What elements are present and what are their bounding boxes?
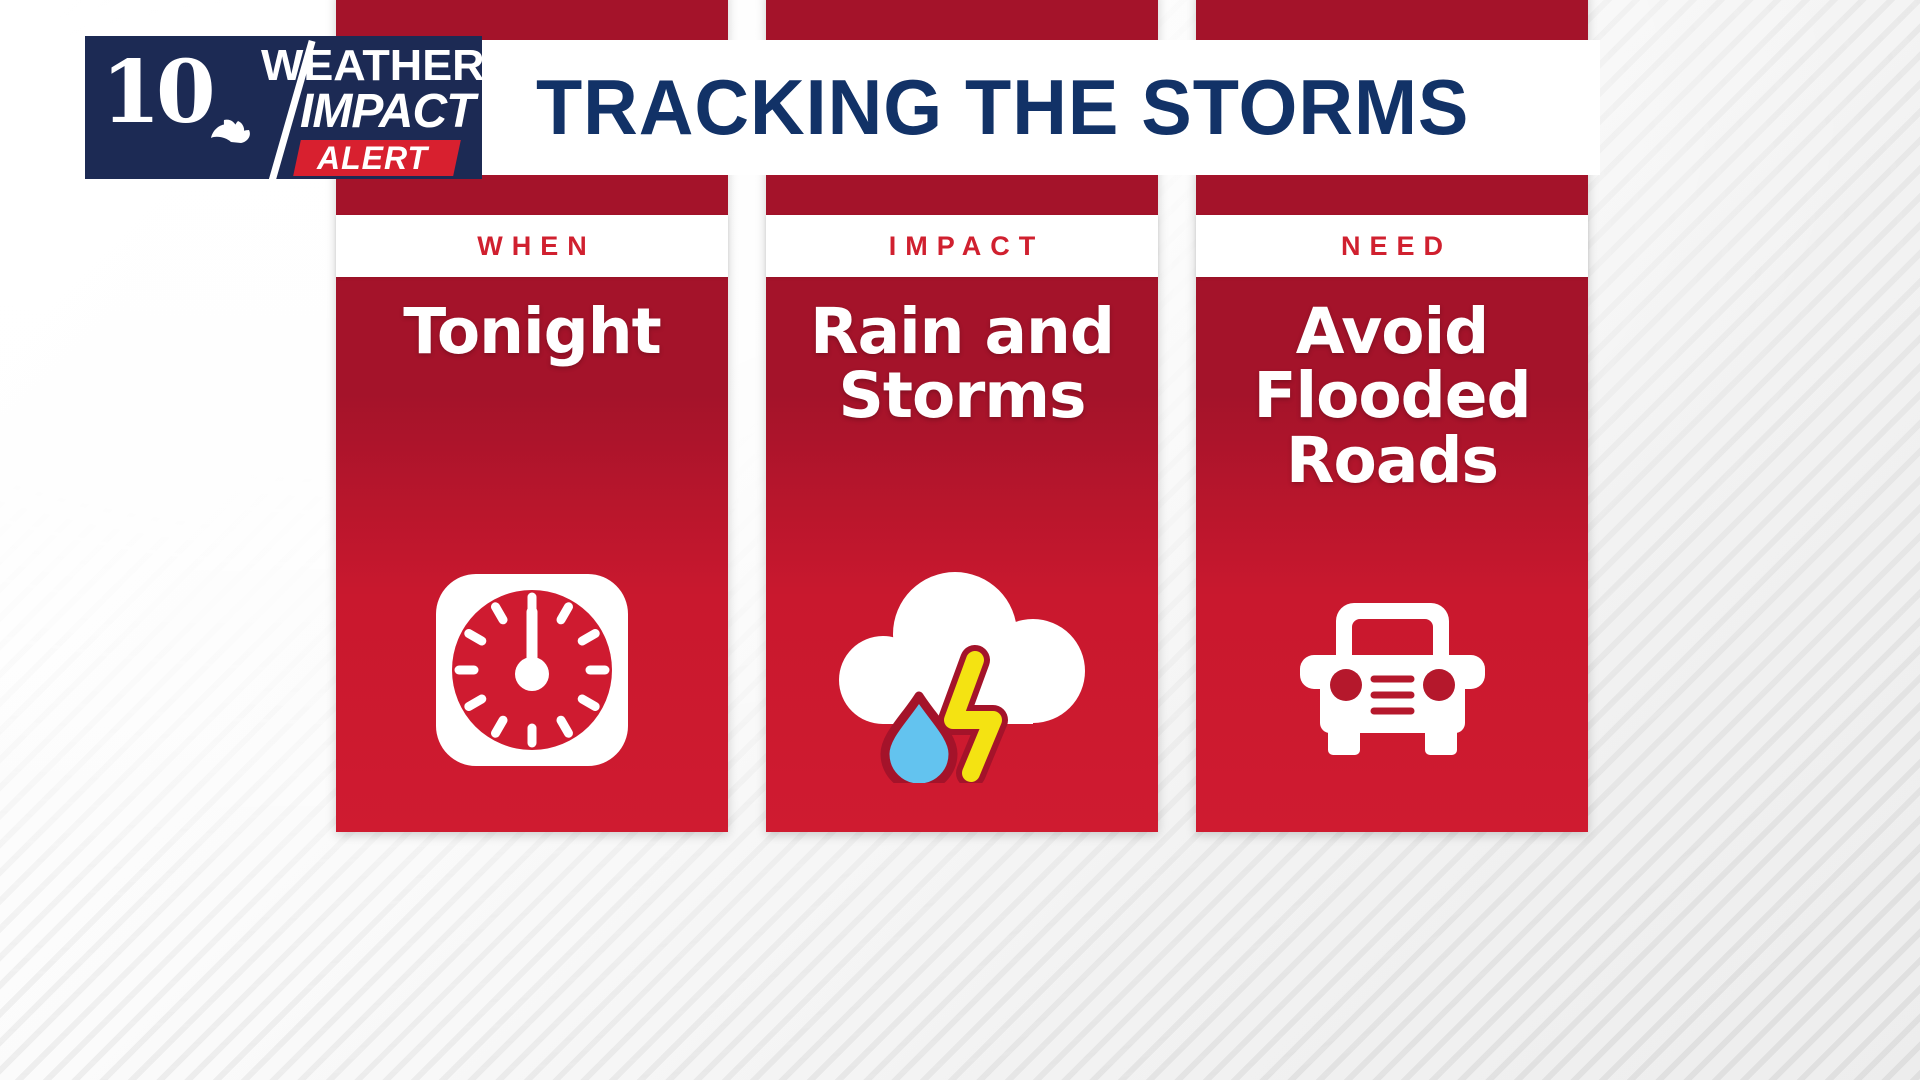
column-header-impact: IMPACT <box>880 231 1045 262</box>
logo-station-number: 10 <box>101 50 211 136</box>
nbc-peacock-icon <box>207 108 255 144</box>
car-front-icon <box>1300 603 1485 758</box>
icon-slot-when <box>336 540 728 800</box>
panel-headline-need: Avoid Flooded Roads <box>1196 300 1588 493</box>
station-logo: 10 WEATHER IMPACT ALERT <box>85 36 482 179</box>
column-header-need: NEED <box>1332 231 1452 262</box>
panel-headline-when: Tonight <box>336 300 728 364</box>
header-strip-need: NEED <box>1196 215 1588 277</box>
clock-icon <box>432 570 632 770</box>
panel-headline-impact: Rain and Storms <box>766 300 1158 429</box>
column-header-when: WHEN <box>468 231 596 262</box>
icon-slot-impact <box>766 545 1158 805</box>
header-strip-when: WHEN <box>336 215 728 277</box>
header-strip-impact: IMPACT <box>766 215 1158 277</box>
page-title: TRACKING THE STORMS <box>536 40 1535 175</box>
icon-slot-need <box>1196 560 1588 800</box>
logo-weather-text: WEATHER <box>261 44 482 88</box>
logo-alert-text: ALERT <box>317 141 428 175</box>
logo-impact-text: IMPACT <box>300 88 474 136</box>
thunderstorm-rain-icon <box>827 568 1097 783</box>
